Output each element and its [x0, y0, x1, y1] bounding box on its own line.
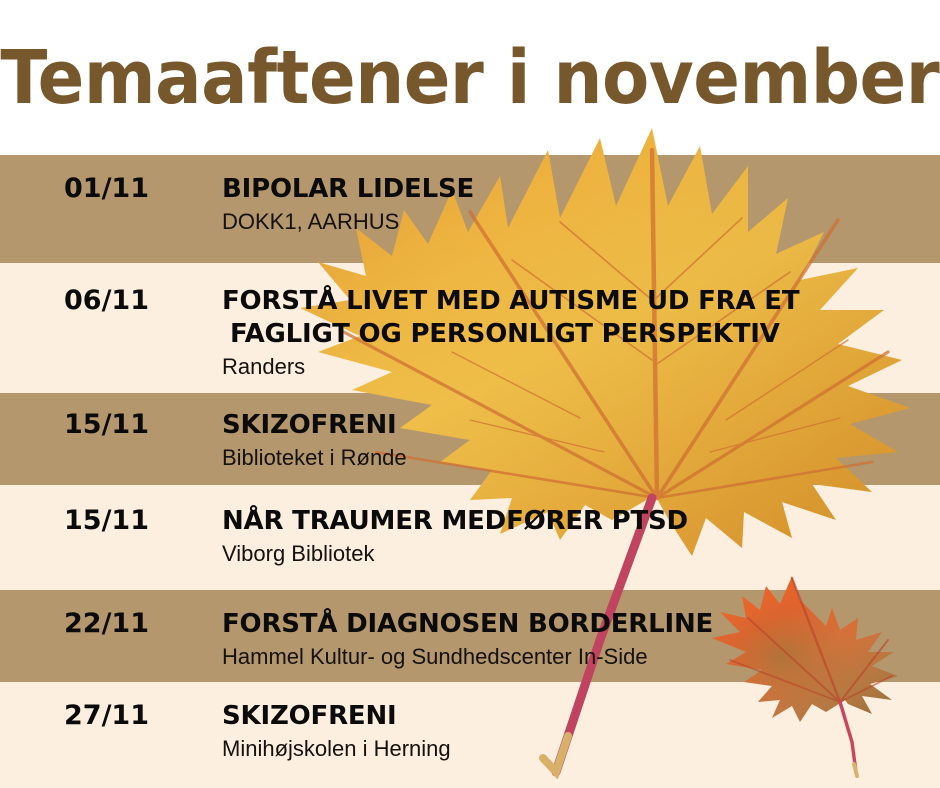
event-venue: DOKK1, AARHUS [222, 209, 922, 235]
event-details: SKIZOFRENIMinihøjskolen i Herning [222, 700, 922, 762]
event-list: 01/11BIPOLAR LIDELSEDOKK1, AARHUS06/11FO… [0, 155, 940, 788]
event-title-line: BIPOLAR LIDELSE [222, 173, 922, 206]
event-date: 15/11 [64, 409, 149, 440]
event-date: 01/11 [64, 173, 149, 204]
event-title-line: FORSTÅ LIVET MED AUTISME UD FRA ET [222, 285, 922, 318]
page-title: Temaaftener i november [1, 41, 940, 115]
event-date: 27/11 [64, 700, 149, 731]
poster-canvas: Temaaftener i november [0, 0, 940, 788]
event-title-line: SKIZOFRENI [222, 409, 922, 442]
event-venue: Viborg Bibliotek [222, 541, 922, 567]
event-venue: Randers [222, 354, 922, 380]
event-venue: Biblioteket i Rønde [222, 445, 922, 471]
poster-header: Temaaftener i november [0, 0, 940, 155]
event-venue: Hammel Kultur- og Sundhedscenter In-Side [222, 644, 922, 670]
event-date: 06/11 [64, 285, 149, 316]
event-details: NÅR TRAUMER MEDFØRER PTSDViborg Bibliote… [222, 505, 922, 567]
event-date: 22/11 [64, 608, 149, 639]
event-title-line: NÅR TRAUMER MEDFØRER PTSD [222, 505, 922, 538]
event-title-line: FAGLIGT OG PERSONLIGT PERSPEKTIV [222, 318, 922, 351]
event-date: 15/11 [64, 505, 149, 536]
event-title-line: FORSTÅ DIAGNOSEN BORDERLINE [222, 608, 922, 641]
event-details: FORSTÅ LIVET MED AUTISME UD FRA ETFAGLIG… [222, 285, 922, 380]
event-title-line: SKIZOFRENI [222, 700, 922, 733]
event-details: BIPOLAR LIDELSEDOKK1, AARHUS [222, 173, 922, 235]
event-details: FORSTÅ DIAGNOSEN BORDERLINEHammel Kultur… [222, 608, 922, 670]
event-venue: Minihøjskolen i Herning [222, 736, 922, 762]
event-details: SKIZOFRENIBiblioteket i Rønde [222, 409, 922, 471]
